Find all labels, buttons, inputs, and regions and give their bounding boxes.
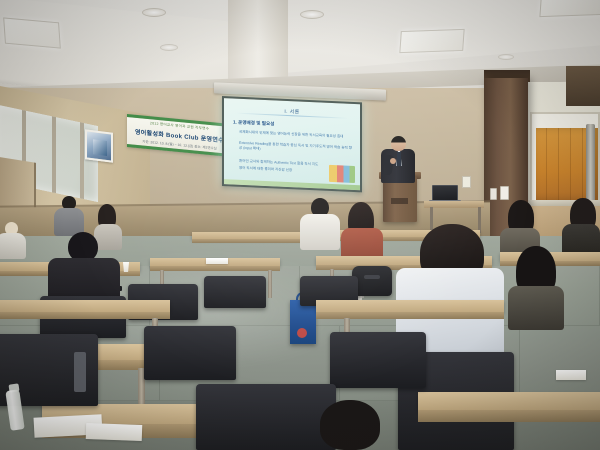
black-backpack [352, 266, 392, 296]
handout-papers [86, 423, 143, 441]
conference-chair[interactable] [196, 384, 336, 450]
curtain-roll[interactable] [586, 124, 595, 204]
ceiling-panel-light-icon [399, 29, 464, 53]
seated-attendee-body [94, 224, 122, 250]
seated-attendee-body [0, 233, 26, 259]
wall-poster [85, 129, 113, 162]
seated-attendee-hair [320, 400, 380, 450]
seated-attendee-body [300, 214, 340, 250]
conference-chair[interactable] [144, 326, 236, 380]
right-wall-shadow [566, 66, 600, 106]
handout-papers [556, 370, 586, 380]
slide-image [329, 165, 355, 183]
table-edge [418, 410, 600, 422]
slide-bullet: 국제화시대의 인재에 맞는 영어능력 신장을 위한 독서교육의 필요성 증대 [239, 130, 354, 140]
ceiling-panel-light-icon [539, 0, 600, 17]
slide-heading: 1. 운영배경 및 필요성 [233, 119, 274, 127]
conference-chair[interactable] [330, 332, 426, 388]
conference-chair[interactable] [204, 276, 266, 308]
seminar-table [418, 392, 600, 410]
seminar-table [0, 300, 170, 312]
ceiling-downlight-icon [160, 44, 178, 51]
table-edge [150, 266, 280, 271]
ceiling-panel-light-icon [3, 17, 61, 48]
equipment-table [424, 201, 484, 208]
presenter-tie [397, 152, 401, 166]
handout-papers [206, 258, 228, 264]
seminar-table [316, 300, 504, 312]
wall-outlet [462, 176, 471, 188]
table-edge [0, 312, 170, 319]
presentation-laptop[interactable] [432, 185, 458, 201]
seated-attendee-body [508, 286, 564, 330]
podium-plate [391, 198, 408, 204]
projection-screen: I. 서론 1. 운영배경 및 필요성 국제화시대의 인재에 맞는 영어능력 신… [222, 96, 362, 192]
presenter-head [391, 136, 406, 151]
presenter-hand [390, 158, 396, 164]
slide-title: I. 서론 [224, 105, 360, 118]
light-switch[interactable] [490, 188, 497, 200]
ceiling-downlight-icon [300, 10, 324, 19]
slide-bullet: Extensive Reading을 통한 학습자 중심 독서 및 자기주도적 … [239, 141, 354, 156]
blue-shopping-bag [290, 300, 316, 344]
ceiling-downlight-icon [498, 54, 514, 60]
light-switch[interactable] [500, 186, 509, 200]
seminar-room-photo: 2012 영어교사 영어과 교원 직무연수 영어활성화 Book Club 운영… [0, 0, 600, 450]
ceiling-downlight-icon [142, 8, 166, 17]
